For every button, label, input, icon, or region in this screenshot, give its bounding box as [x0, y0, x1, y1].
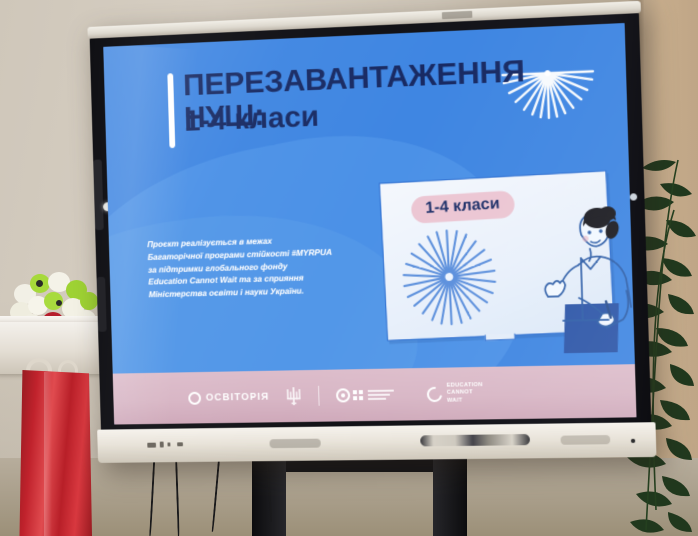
brand-logo [442, 11, 473, 19]
display-side-handle [97, 277, 107, 332]
ministry-squares-icon [353, 390, 363, 400]
power-indicator-icon [631, 439, 635, 443]
red-drape [18, 370, 92, 536]
bezel-label-right [560, 435, 610, 445]
slide-subtitle: 1-4 класи [184, 100, 320, 139]
figure-lineart-icon [517, 202, 637, 348]
room-photo-scene: ПЕРЕЗАВАНТАЖЕННЯ НУШ: 1-4 класи Проєкт р… [0, 0, 698, 536]
bezel-label-left [269, 439, 320, 449]
ministry-ring-icon [336, 388, 350, 402]
io-ports[interactable] [147, 441, 183, 447]
display-bottom-bezel [97, 422, 656, 463]
footer-divider [318, 386, 320, 406]
ecw-arc-icon [424, 383, 445, 404]
ministry-of-education-logo [336, 388, 394, 403]
education-cannot-wait-logo: EDUCATION CANNOT WAIT [426, 382, 483, 405]
presentation-slide: ПЕРЕЗАВАНТАЖЕННЯ НУШ: 1-4 класи Проєкт р… [103, 23, 636, 425]
ministry-name-text [368, 390, 394, 400]
column-capital [0, 322, 108, 374]
board-sunburst-icon [396, 224, 502, 329]
ukraine-trident-icon [286, 386, 302, 406]
osvitoria-label: ОСВІТОРІЯ [206, 391, 270, 403]
osvitoria-ring-icon [188, 391, 201, 404]
teacher-figure-illustration [517, 202, 637, 348]
control-buttons[interactable] [420, 434, 530, 446]
slide-body-text: Проєкт реалізується в межах Багаторічної… [147, 232, 372, 301]
display-screen[interactable]: ПЕРЕЗАВАНТАЖЕННЯ НУШ: 1-4 класи Проєкт р… [103, 23, 636, 425]
column-pedestal [0, 300, 114, 536]
board-sunburst-rays [396, 224, 502, 329]
ecw-label: EDUCATION CANNOT WAIT [447, 382, 484, 405]
ecw-line: WAIT [447, 397, 483, 405]
interactive-display[interactable]: ПЕРЕЗАВАНТАЖЕННЯ НУШ: 1-4 класи Проєкт р… [90, 9, 652, 437]
slide-footer-logos: ОСВІТОРІЯ [113, 364, 637, 424]
title-accent-bar [167, 73, 175, 148]
drape-highlight [44, 372, 52, 536]
osvitoria-logo: ОСВІТОРІЯ [188, 390, 269, 404]
grade-pill-label: 1-4 класи [411, 190, 515, 224]
